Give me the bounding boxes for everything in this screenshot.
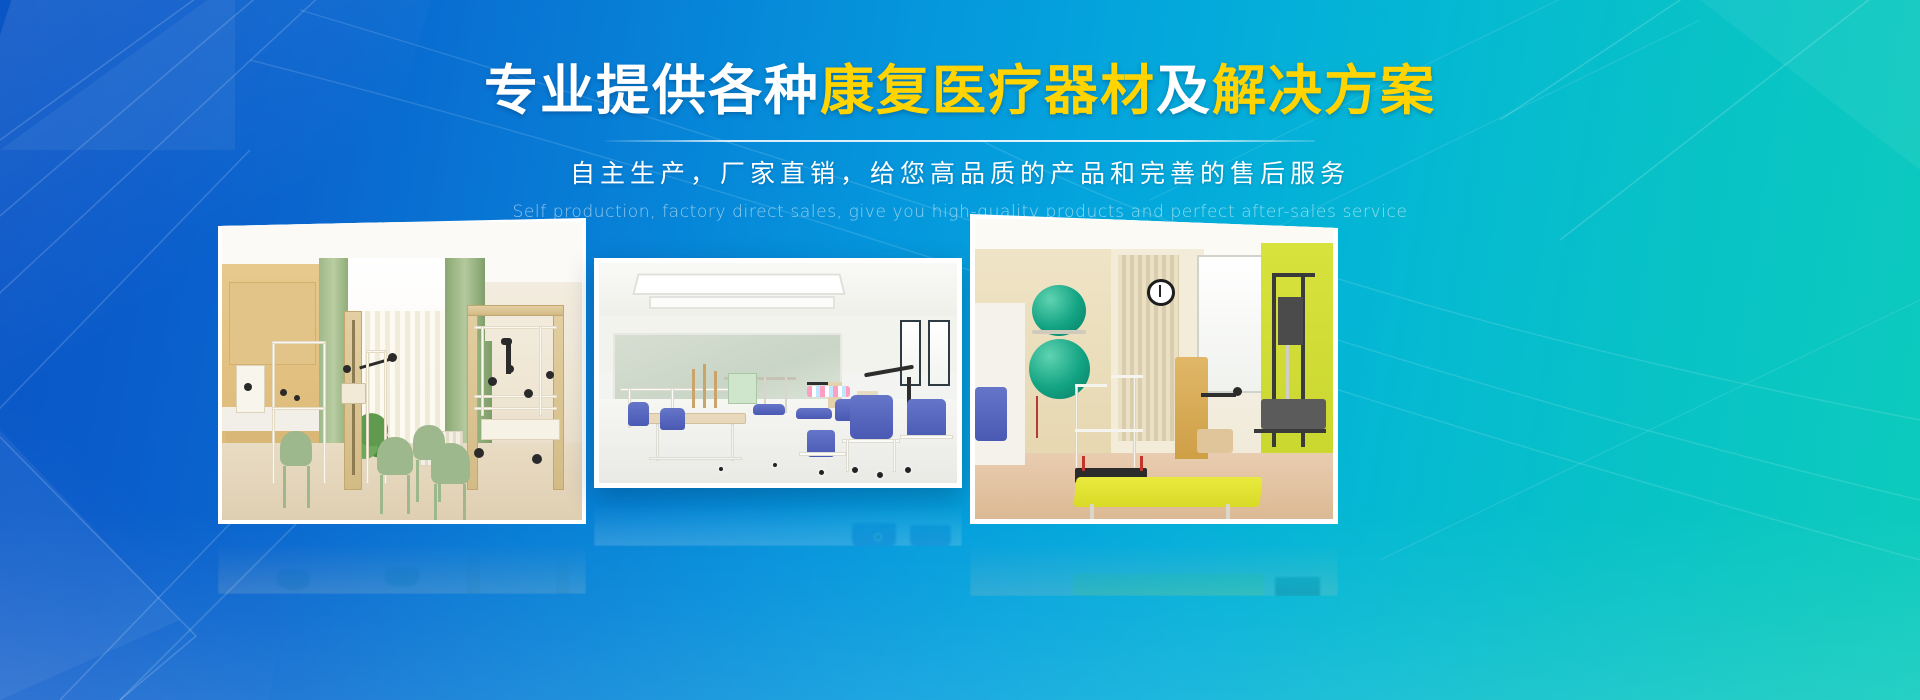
headline-divider — [605, 140, 1315, 142]
photo-3-image — [975, 219, 1333, 519]
headline-block: 专业提供各种康复医疗器材及解决方案 自主生产，厂家直销，给您高品质的产品和完善的… — [0, 62, 1920, 222]
scene-rehab-room-1 — [222, 222, 582, 520]
headline: 专业提供各种康复医疗器材及解决方案 — [0, 62, 1920, 120]
subtitle-english: Self production, factory direct sales, g… — [0, 202, 1920, 222]
headline-segment-4: 解决方案 — [1212, 59, 1436, 122]
headline-segment-2: 康复医疗器材 — [820, 59, 1156, 122]
scene-rehab-hall-2 — [599, 263, 957, 483]
photo-2-reflection — [594, 488, 962, 546]
photo-2[interactable] — [594, 258, 962, 488]
photo-1-reflection — [218, 524, 586, 594]
scene-rehab-room-3 — [975, 219, 1333, 519]
photo-3-reflection — [970, 524, 1338, 596]
photo-1[interactable] — [218, 218, 586, 524]
photo-2-image — [599, 263, 957, 483]
headline-segment-3: 及 — [1156, 59, 1212, 122]
subtitle-chinese: 自主生产，厂家直销，给您高品质的产品和完善的售后服务 — [0, 154, 1920, 190]
photo-3[interactable] — [970, 214, 1338, 524]
headline-segment-1: 专业提供各种 — [484, 59, 820, 122]
photo-1-image — [222, 222, 582, 520]
promo-banner: 专业提供各种康复医疗器材及解决方案 自主生产，厂家直销，给您高品质的产品和完善的… — [0, 0, 1920, 700]
